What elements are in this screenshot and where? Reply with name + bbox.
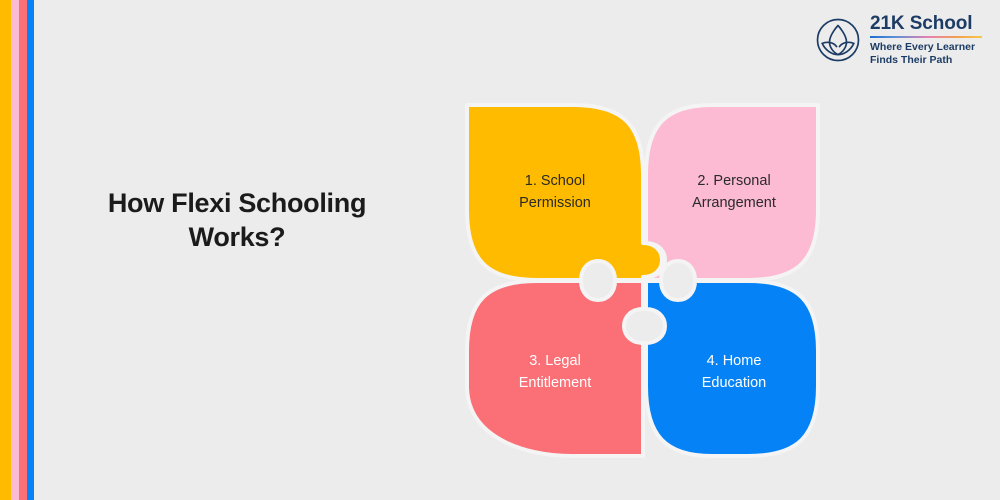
- logo-tagline-line2: Finds Their Path: [870, 54, 982, 67]
- lotus-circle-icon: [815, 17, 861, 63]
- logo-wordmark: 21K School: [870, 14, 982, 34]
- piece-label-school-permission-line2: Permission: [519, 195, 591, 211]
- puzzle-diagram: 1. School Permission 2. Personal Arrange…: [455, 93, 830, 468]
- puzzle-piece-personal-arrangement[interactable]: 2. Personal Arrangement: [646, 105, 818, 280]
- piece-label-personal-arrangement-line2: Arrangement: [692, 195, 776, 211]
- logo-text-block: 21K School Where Every Learner Finds The…: [870, 14, 982, 67]
- piece-label-home-education-line1: 4. Home: [707, 353, 762, 369]
- piece-label-school-permission-line1: 1. School: [525, 173, 585, 189]
- page-title: How Flexi Schooling Works?: [62, 186, 412, 255]
- puzzle-piece-legal-entitlement[interactable]: 3. Legal Entitlement: [467, 281, 643, 456]
- piece-label-legal-entitlement-line1: 3. Legal: [529, 353, 581, 369]
- stripe-pink: [11, 0, 19, 500]
- stripe-coral: [19, 0, 27, 500]
- brand-logo[interactable]: 21K School Where Every Learner Finds The…: [815, 14, 982, 67]
- accent-stripe-bar: [0, 0, 34, 500]
- stripe-yellow: [0, 0, 11, 500]
- puzzle-piece-school-permission[interactable]: 1. School Permission: [467, 105, 662, 280]
- logo-tagline-line1: Where Every Learner: [870, 41, 982, 54]
- page-title-line2: Works?: [62, 220, 412, 254]
- logo-gradient-rule: [870, 36, 982, 39]
- piece-label-legal-entitlement-line2: Entitlement: [519, 375, 592, 391]
- page-title-line1: How Flexi Schooling: [62, 186, 412, 220]
- puzzle-piece-home-education[interactable]: 4. Home Education: [646, 281, 818, 456]
- stripe-blue: [27, 0, 34, 500]
- puzzle-svg: 1. School Permission 2. Personal Arrange…: [455, 93, 830, 468]
- piece-label-personal-arrangement-line1: 2. Personal: [697, 173, 770, 189]
- piece-label-home-education-line2: Education: [702, 375, 767, 391]
